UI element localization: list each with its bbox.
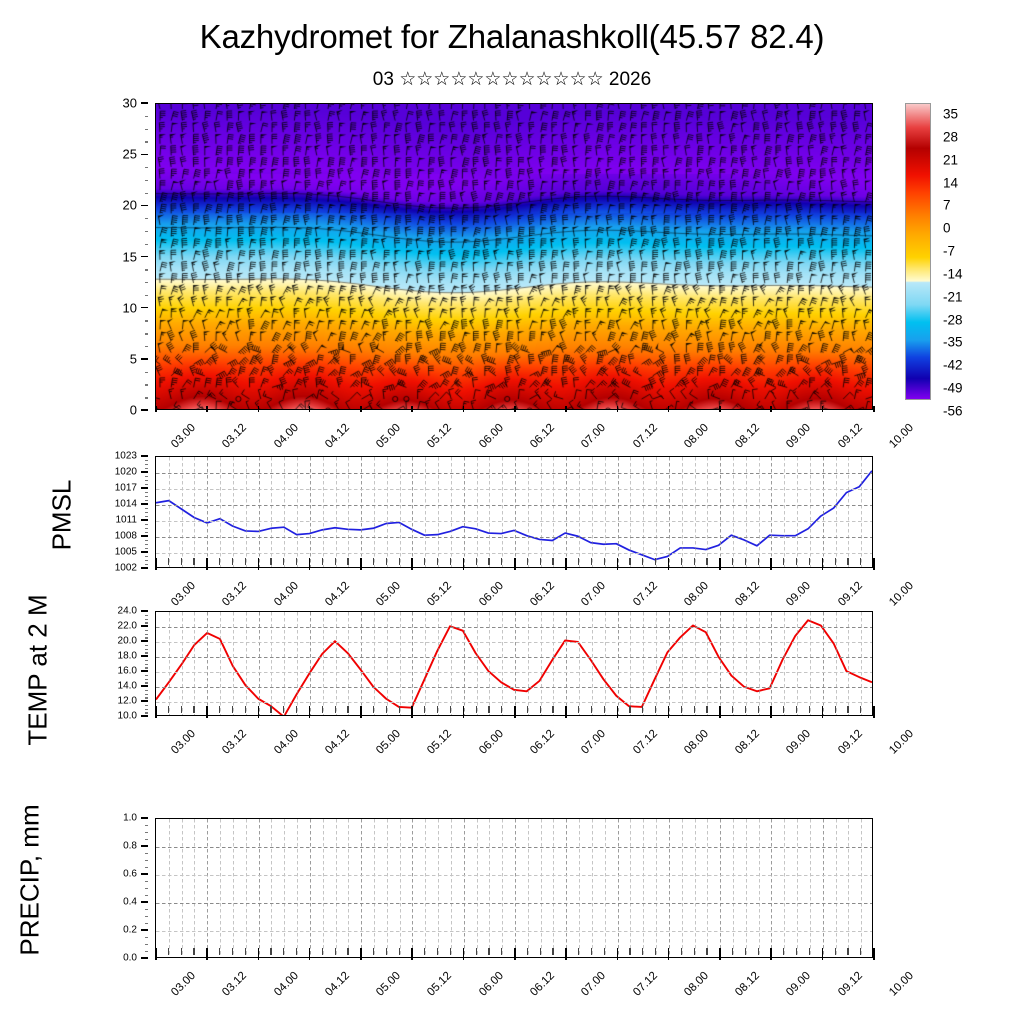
x-tick-minor (694, 948, 695, 955)
x-tick-label: 08.12 (733, 970, 762, 999)
x-tick (206, 558, 208, 570)
gridline-horizontal (156, 473, 872, 474)
x-tick-minor (552, 706, 553, 713)
gridline-vertical (720, 457, 721, 567)
x-tick-minor (437, 706, 438, 713)
gridline-vertical (502, 612, 503, 715)
gridline-vertical (361, 819, 362, 957)
y-tick-minor (145, 193, 148, 194)
y-tick (141, 957, 148, 958)
y-tick-minor (145, 652, 148, 653)
x-tick-label: 09.12 (836, 422, 865, 451)
y-tick (141, 205, 148, 206)
colorbar-label: -14 (943, 267, 963, 281)
y-tick-minor (145, 564, 148, 565)
y-tick-minor (145, 532, 148, 533)
precip-plot-area (155, 818, 873, 958)
y-tick (141, 503, 148, 504)
gridline-vertical (861, 457, 862, 567)
gridline-vertical (643, 612, 644, 715)
gridline-vertical (310, 457, 311, 567)
temp-line (156, 612, 872, 716)
y-tick-minor (145, 397, 148, 398)
y-tick-label: 1011 (115, 515, 137, 526)
gridline-vertical (771, 819, 772, 957)
x-tick-label: 06.00 (477, 580, 506, 609)
x-tick (360, 558, 362, 570)
x-tick-minor (745, 948, 746, 955)
x-tick-minor (783, 706, 784, 713)
x-tick-minor (604, 948, 605, 955)
x-tick (309, 948, 311, 960)
colorbar-label: -42 (943, 359, 963, 373)
gridline-vertical (477, 457, 478, 567)
x-tick (463, 948, 465, 960)
x-tick-minor (706, 948, 707, 955)
x-tick-minor (296, 948, 297, 955)
gridline-vertical (682, 457, 683, 567)
contour-plot-area (155, 103, 873, 410)
x-tick-minor (476, 948, 477, 955)
y-tick (141, 655, 148, 656)
y-tick-minor (145, 484, 148, 485)
x-tick-minor (860, 706, 861, 713)
x-tick-minor (181, 706, 182, 713)
x-tick-minor (694, 558, 695, 565)
gridline-vertical (746, 819, 747, 957)
y-tick-label: 0.0 (123, 953, 137, 964)
y-tick-minor (145, 141, 148, 142)
x-tick (309, 558, 311, 570)
x-tick-minor (399, 706, 400, 713)
gridline-vertical (566, 819, 567, 957)
x-tick-minor (219, 558, 220, 565)
x-tick (822, 558, 824, 570)
gridline-vertical (553, 612, 554, 715)
gridline-vertical (502, 457, 503, 567)
x-tick (770, 948, 772, 960)
gridline-vertical (515, 612, 516, 715)
x-tick-minor (193, 558, 194, 565)
y-tick-label: 1008 (115, 531, 137, 542)
y-tick-minor (145, 508, 148, 509)
x-tick-label: 04.00 (272, 970, 301, 999)
gridline-vertical (451, 457, 452, 567)
gridline-vertical (464, 457, 465, 567)
gridline-vertical (695, 457, 696, 567)
x-tick-minor (437, 558, 438, 565)
gridline-vertical (194, 612, 195, 715)
y-tick-minor (145, 832, 148, 833)
gridline-vertical (259, 457, 260, 567)
x-tick-minor (488, 948, 489, 955)
x-tick (617, 948, 619, 960)
y-tick-minor (145, 660, 148, 661)
gridline-vertical (605, 457, 606, 567)
y-tick-minor (145, 218, 148, 219)
y-tick-minor (145, 860, 148, 861)
gridline-vertical (374, 457, 375, 567)
y-tick-minor (145, 916, 148, 917)
y-tick (141, 610, 148, 611)
x-tick (873, 406, 875, 412)
gridline-vertical (169, 819, 170, 957)
x-tick-minor (322, 706, 323, 713)
x-tick-label: 06.12 (528, 728, 557, 757)
gridline-vertical (336, 457, 337, 567)
gridline-vertical (541, 612, 542, 715)
gridline-vertical (553, 819, 554, 957)
colorbar-gradient (905, 103, 931, 400)
gridline-vertical (323, 612, 324, 715)
y-tick-minor (145, 867, 148, 868)
y-tick-label: 18.0 (118, 651, 137, 662)
x-tick-minor (450, 706, 451, 713)
x-tick-minor (476, 558, 477, 565)
temp-x-axis-labels: 03.0003.1204.0004.1205.0005.1206.0006.12… (155, 718, 873, 764)
y-tick-label: 22.0 (118, 621, 137, 632)
x-tick-minor (424, 948, 425, 955)
gridline-vertical (656, 457, 657, 567)
x-tick-label: 08.00 (682, 970, 711, 999)
gridline-vertical (400, 457, 401, 567)
x-tick-label: 09.00 (785, 422, 814, 451)
x-tick (719, 948, 721, 960)
precip-line (156, 819, 872, 958)
x-tick-minor (745, 558, 746, 565)
x-tick-minor (796, 706, 797, 713)
x-tick (565, 948, 567, 960)
x-tick-label: 05.12 (426, 422, 455, 451)
contour-y-axis-labels: 051015202530 (110, 103, 148, 410)
gridline-vertical (412, 819, 413, 957)
x-tick-label: 08.12 (733, 422, 762, 451)
gridline-horizontal (156, 903, 872, 904)
x-tick-minor (232, 558, 233, 565)
x-tick-minor (347, 706, 348, 713)
gridline-vertical (259, 612, 260, 715)
gridline-vertical (182, 457, 183, 567)
x-tick-minor (835, 558, 836, 565)
y-tick (141, 256, 148, 257)
x-tick-minor (578, 706, 579, 713)
x-tick (719, 406, 721, 412)
x-tick (617, 406, 619, 412)
x-tick (206, 948, 208, 960)
x-tick-minor (245, 706, 246, 713)
x-tick-minor (193, 948, 194, 955)
x-tick-minor (245, 558, 246, 565)
y-tick-minor (145, 888, 148, 889)
y-tick-minor (145, 853, 148, 854)
gridline-vertical (207, 612, 208, 715)
x-tick-minor (501, 558, 502, 565)
x-tick-minor (540, 558, 541, 565)
gridline-vertical (297, 457, 298, 567)
gridline-vertical (233, 457, 234, 567)
gridline-vertical (759, 457, 760, 567)
y-tick-label: 16.0 (118, 666, 137, 677)
x-tick-label: 06.12 (528, 422, 557, 451)
x-tick (770, 558, 772, 570)
gridline-vertical (502, 819, 503, 957)
x-tick-label: 09.00 (785, 970, 814, 999)
x-tick-label: 07.12 (631, 422, 660, 451)
x-tick (258, 406, 260, 412)
x-tick (514, 406, 516, 412)
pmsl-line (156, 457, 872, 568)
x-tick-minor (386, 706, 387, 713)
y-tick-label: 1005 (115, 547, 137, 558)
gridline-vertical (784, 819, 785, 957)
gridline-vertical (784, 457, 785, 567)
colorbar-label: -7 (943, 244, 955, 258)
gridline-vertical (566, 457, 567, 567)
y-tick-minor (145, 492, 148, 493)
x-tick-minor (552, 558, 553, 565)
x-tick-minor (809, 706, 810, 713)
x-tick (258, 706, 260, 718)
x-tick-label: 03.00 (169, 728, 198, 757)
x-tick-label: 07.12 (631, 970, 660, 999)
x-tick-minor (347, 558, 348, 565)
x-tick-minor (758, 948, 759, 955)
x-tick-minor (232, 948, 233, 955)
x-tick-label: 05.12 (426, 580, 455, 609)
x-tick (155, 706, 157, 718)
gridline-vertical (374, 612, 375, 715)
gridline-vertical (528, 612, 529, 715)
x-tick-minor (578, 948, 579, 955)
gridline-vertical (733, 819, 734, 957)
gridline-vertical (246, 612, 247, 715)
x-tick (822, 406, 824, 412)
gridline-horizontal (156, 702, 872, 703)
temp-y-axis-labels: 10.012.014.016.018.020.022.024.0 (112, 611, 148, 716)
pmsl-x-axis-labels: 03.0003.1204.0004.1205.0005.1206.0006.12… (155, 570, 873, 616)
gridline-vertical (579, 612, 580, 715)
y-tick-minor (145, 295, 148, 296)
x-tick (770, 406, 772, 412)
x-tick (770, 706, 772, 718)
x-tick-label: 07.00 (579, 422, 608, 451)
y-tick-minor (145, 664, 148, 665)
gridline-vertical (669, 819, 670, 957)
y-tick-minor (145, 675, 148, 676)
gridline-vertical (169, 457, 170, 567)
pmsl-plot-area (155, 456, 873, 568)
y-tick-label: 1.0 (123, 813, 137, 824)
y-tick-minor (145, 544, 148, 545)
y-tick (141, 307, 148, 308)
x-tick-minor (399, 948, 400, 955)
x-tick-minor (270, 558, 271, 565)
x-tick-label: 08.00 (682, 580, 711, 609)
x-tick-minor (322, 948, 323, 955)
x-tick-label: 07.00 (579, 970, 608, 999)
gridline-vertical (848, 457, 849, 567)
y-tick-minor (145, 619, 148, 620)
x-tick-label: 09.12 (836, 580, 865, 609)
gridline-horizontal (156, 657, 872, 658)
x-tick-label: 08.12 (733, 728, 762, 757)
y-tick (141, 901, 148, 902)
gridline-vertical (284, 612, 285, 715)
x-tick-minor (732, 706, 733, 713)
gridline-vertical (387, 457, 388, 567)
x-tick-minor (809, 948, 810, 955)
gridline-vertical (477, 819, 478, 957)
x-tick (565, 706, 567, 718)
x-tick-label: 04.00 (272, 728, 301, 757)
x-tick-label: 10.00 (887, 728, 916, 757)
gridline-horizontal (156, 505, 872, 506)
x-tick-minor (706, 558, 707, 565)
x-tick-minor (629, 948, 630, 955)
gridline-vertical (541, 819, 542, 957)
x-tick-label: 04.00 (272, 422, 301, 451)
gridline-vertical (823, 819, 824, 957)
gridline-vertical (169, 612, 170, 715)
x-tick-label: 03.12 (220, 970, 249, 999)
y-tick-label: 10 (123, 302, 137, 313)
temperature-contour-field (156, 104, 873, 410)
gridline-vertical (387, 819, 388, 957)
x-tick (668, 406, 670, 412)
gridline-vertical (246, 457, 247, 567)
y-tick (141, 551, 148, 552)
x-tick (565, 406, 567, 412)
gridline-vertical (451, 819, 452, 957)
gridline-vertical (297, 819, 298, 957)
gridline-vertical (695, 612, 696, 715)
colorbar-label: 21 (943, 153, 958, 167)
x-tick-label: 09.00 (785, 728, 814, 757)
gridline-vertical (707, 612, 708, 715)
gridline-vertical (477, 612, 478, 715)
x-tick-minor (386, 558, 387, 565)
gridline-vertical (515, 457, 516, 567)
x-tick-label: 03.12 (220, 422, 249, 451)
x-tick-label: 05.00 (374, 970, 403, 999)
x-tick-minor (732, 558, 733, 565)
gridline-horizontal (156, 687, 872, 688)
x-tick-minor (322, 558, 323, 565)
x-tick-minor (181, 558, 182, 565)
x-tick-minor (501, 948, 502, 955)
gridline-vertical (271, 457, 272, 567)
x-tick (822, 706, 824, 718)
x-tick (873, 706, 875, 718)
x-tick-minor (796, 948, 797, 955)
gridline-vertical (489, 612, 490, 715)
gridline-vertical (579, 819, 580, 957)
gridline-vertical (207, 457, 208, 567)
x-tick (514, 948, 516, 960)
x-tick-minor (860, 948, 861, 955)
x-tick-minor (758, 558, 759, 565)
x-tick-minor (168, 706, 169, 713)
gridline-vertical (220, 612, 221, 715)
y-tick-minor (145, 540, 148, 541)
gridline-vertical (323, 457, 324, 567)
gridline-vertical (182, 819, 183, 957)
precip-y-axis-labels: 0.00.20.40.60.81.0 (112, 818, 148, 958)
x-tick-minor (604, 706, 605, 713)
x-tick-label: 03.00 (169, 970, 198, 999)
x-tick (411, 558, 413, 570)
upper-air-panel: 051015202530 03.0003.1204.0004.1205.0005… (0, 0, 1024, 460)
x-tick (463, 558, 465, 570)
gridline-vertical (297, 612, 298, 715)
gridline-vertical (848, 612, 849, 715)
x-tick-label: 06.00 (477, 728, 506, 757)
x-tick (514, 558, 516, 570)
gridline-vertical (528, 819, 529, 957)
x-tick-label: 07.00 (579, 580, 608, 609)
x-tick-minor (450, 558, 451, 565)
y-tick-label: 25 (123, 149, 137, 160)
x-tick-minor (168, 558, 169, 565)
y-tick-minor (145, 825, 148, 826)
gridline-vertical (425, 819, 426, 957)
gridline-vertical (336, 819, 337, 957)
x-tick-minor (283, 558, 284, 565)
x-tick-minor (706, 706, 707, 713)
gridline-vertical (271, 819, 272, 957)
gridline-vertical (566, 612, 567, 715)
x-tick-minor (373, 948, 374, 955)
gridline-vertical (310, 819, 311, 957)
x-tick (411, 406, 413, 412)
y-tick-label: 15 (123, 251, 137, 262)
gridline-horizontal (156, 847, 872, 848)
y-tick-minor (145, 937, 148, 938)
gridline-vertical (618, 612, 619, 715)
gridline-vertical (848, 819, 849, 957)
gridline-vertical (605, 612, 606, 715)
gridline-vertical (592, 457, 593, 567)
x-tick-minor (732, 948, 733, 955)
gridline-vertical (553, 457, 554, 567)
y-tick (141, 567, 148, 568)
gridline-vertical (592, 612, 593, 715)
x-tick (360, 406, 362, 412)
gridline-vertical (323, 819, 324, 957)
gridline-vertical (528, 457, 529, 567)
x-tick-minor (835, 706, 836, 713)
y-tick (141, 102, 148, 103)
temp-axis-label: TEMP at 2 M (23, 594, 54, 745)
x-tick (411, 948, 413, 960)
y-tick-minor (145, 682, 148, 683)
y-tick (141, 487, 148, 488)
x-tick (360, 948, 362, 960)
x-tick (873, 558, 875, 570)
y-tick-minor (145, 528, 148, 529)
y-tick-minor (145, 167, 148, 168)
colorbar-label: -49 (943, 381, 963, 395)
x-tick-minor (655, 948, 656, 955)
y-tick-minor (145, 634, 148, 635)
x-tick-minor (193, 706, 194, 713)
y-tick-minor (145, 556, 148, 557)
x-tick-minor (642, 948, 643, 955)
gridline-vertical (771, 457, 772, 567)
y-tick-label: 24.0 (118, 606, 137, 617)
gridline-vertical (541, 457, 542, 567)
y-tick-label: 20.0 (118, 636, 137, 647)
